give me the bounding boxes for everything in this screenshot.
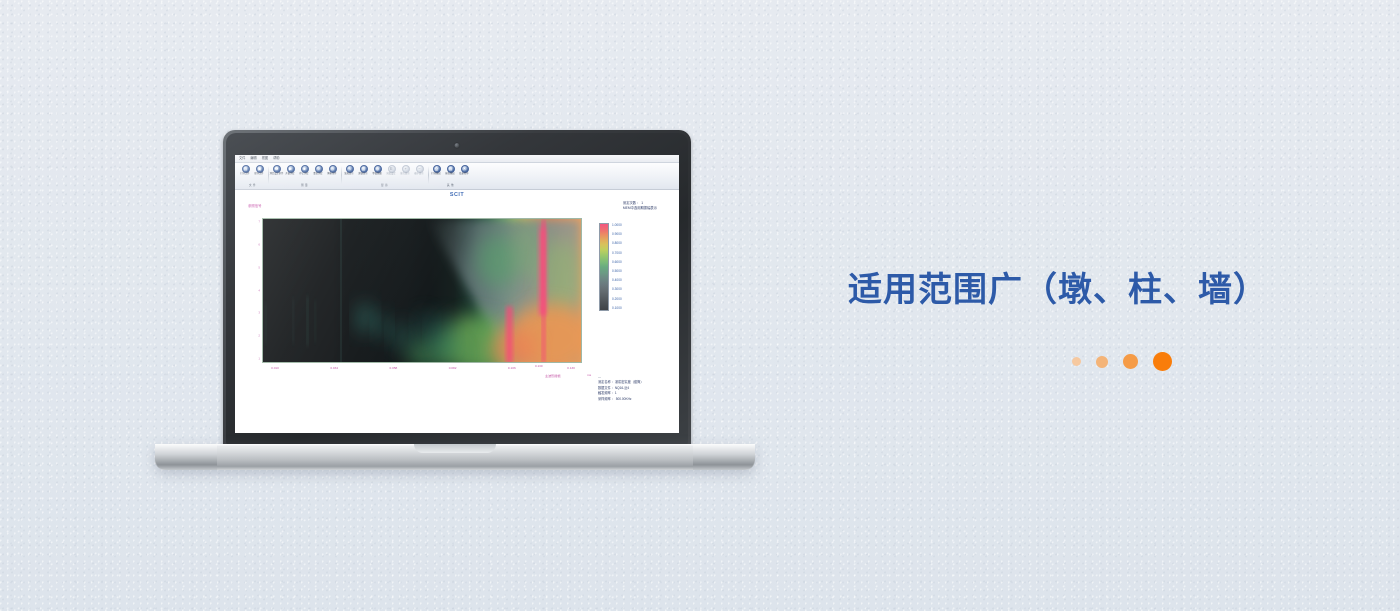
x-axis-end-value: 0.130 xyxy=(535,364,543,368)
ribbon-group-file: ▤ 打开文件 ▣ 保存文件 文 件 xyxy=(237,164,268,189)
menu-item-edit[interactable]: 编辑 xyxy=(250,157,256,160)
ribbon-group-measure: ❶ 测定设定条件 ▶ 开始测定 ■ 停止测定 xyxy=(268,164,341,189)
toolbar-button-measure-setup[interactable]: ❶ 测定设定条件 xyxy=(270,165,283,176)
toolbar-label: 重复测定 xyxy=(314,173,323,175)
colorbar-tick: 0.6000 xyxy=(612,261,622,264)
x-axis-tick: 0.034 xyxy=(330,367,338,370)
laptop-base-notch xyxy=(414,444,496,453)
dot-3[interactable] xyxy=(1123,354,1138,369)
toolbar-label: 保存文件 xyxy=(255,173,264,175)
toolbar-label: 频谱显示 xyxy=(359,173,368,175)
toolbar-label: 测定设定条件 xyxy=(270,173,284,175)
display-mode-label: MEM中选用期振幅表示 xyxy=(623,206,657,211)
menu-item-view[interactable]: 视图 xyxy=(262,157,268,160)
ribbon-group-title: 显 示 xyxy=(381,185,388,189)
plot-canvas: 参照信号 测定次数 ： 1 MEM中选用期振幅表示 7654321 xyxy=(235,199,679,433)
dot-1[interactable] xyxy=(1072,357,1081,366)
x-axis-unit: ms xyxy=(587,373,591,377)
laptop-mockup: 文件 编辑 视图 帮助 ▤ 打开文件 xyxy=(155,130,755,470)
toolbar-button-stop[interactable]: ■ 停止测定 xyxy=(298,165,311,176)
toolbar-button-zoom-in[interactable]: + 放大显示 xyxy=(399,165,412,176)
x-axis-tick: 0.130 xyxy=(567,367,575,370)
footer-divider: --- xyxy=(598,375,601,379)
y-axis-tick: 1 xyxy=(258,358,260,361)
ribbon-group-title: 其 他 xyxy=(447,185,454,189)
toolbar-button-waveform[interactable]: ∿ 波形显示 xyxy=(343,165,356,176)
x-axis-tick: 0.010 xyxy=(271,367,279,370)
colorbar-tick: 0.9000 xyxy=(612,233,622,236)
ribbon-group-title: 测 量 xyxy=(301,185,308,189)
dot-4[interactable] xyxy=(1153,352,1172,371)
laptop-base-left-edge xyxy=(155,444,217,470)
measurement-info-line: 采样频率 ： 500.00KHz xyxy=(598,397,644,403)
toolbar-button-replay[interactable]: ↻ 重复测定 xyxy=(312,165,325,176)
application-window: 文件 编辑 视图 帮助 ▤ 打开文件 xyxy=(235,155,679,433)
colorbar-tick: 0.8000 xyxy=(612,242,622,245)
carousel-indicator[interactable] xyxy=(1072,352,1172,371)
toolbar-label: 开始测定 xyxy=(286,173,295,175)
ribbon-group-other: ⎙ 打印输出 ▤ 报告输出 ✕ 结束程序 xyxy=(428,164,473,189)
colorbar-tick: 1.0000 xyxy=(612,224,622,227)
colorbar-tick: 0.4000 xyxy=(612,279,622,282)
x-axis-ticks: 0.0100.0340.0580.0820.1060.130 xyxy=(262,367,582,377)
toolbar-button-scale[interactable]: ⌷ 刻度设定 xyxy=(385,165,398,176)
measurement-info-line: 测定名称 ：灌浆密实度（套筒） xyxy=(598,380,644,386)
laptop-screen: 文件 编辑 视图 帮助 ▤ 打开文件 xyxy=(235,155,679,433)
colorbar-tick: 0.2000 xyxy=(612,298,622,301)
colorbar-tick: 0.5000 xyxy=(612,270,622,273)
toolbar-label: 停止测定 xyxy=(300,173,309,175)
y-axis-tick: 7 xyxy=(258,221,260,224)
ribbon-group-title: 文 件 xyxy=(249,185,256,189)
toolbar-button-print[interactable]: ⎙ 打印输出 xyxy=(430,165,443,176)
y-axis-tick: 6 xyxy=(258,243,260,246)
laptop-bezel-top xyxy=(226,133,688,155)
ribbon-group-display: ∿ 波形显示 ▥ 频谱显示 ◍ 等值线图 xyxy=(341,164,428,189)
toolbar-label: 打开文件 xyxy=(241,173,250,175)
x-axis-tick: 0.082 xyxy=(449,367,457,370)
laptop-base-right-edge xyxy=(693,444,755,470)
document-title: SCIT xyxy=(235,190,679,199)
reference-signal-label: 参照信号 xyxy=(248,203,262,208)
x-axis-label: 主波形振幅 xyxy=(545,373,560,378)
menu-bar: 文件 编辑 视图 帮助 xyxy=(235,155,679,163)
x-axis-tick: 0.106 xyxy=(508,367,516,370)
y-axis-tick: 5 xyxy=(258,266,260,269)
toolbar-label: 波形显示 xyxy=(345,173,354,175)
colorbar-gradient xyxy=(599,223,609,311)
toolbar-label: 打印输出 xyxy=(432,173,441,175)
dot-2[interactable] xyxy=(1096,356,1108,368)
ribbon-toolbar: ▤ 打开文件 ▣ 保存文件 文 件 xyxy=(235,163,679,190)
webcam-icon xyxy=(455,143,460,148)
laptop-lid: 文件 编辑 视图 帮助 ▤ 打开文件 xyxy=(223,130,691,448)
toolbar-label: 等值线图 xyxy=(373,173,382,175)
toolbar-button-contour[interactable]: ◍ 等值线图 xyxy=(371,165,384,176)
y-axis-tick: 2 xyxy=(258,335,260,338)
laptop-lid-inner: 文件 编辑 视图 帮助 ▤ 打开文件 xyxy=(226,133,688,445)
toolbar-button-report[interactable]: ▤ 报告输出 xyxy=(444,165,457,176)
colorbar-tick-labels: 1.00000.90000.80000.70000.60000.50000.40… xyxy=(612,223,622,311)
colorbar-tick: 0.3000 xyxy=(612,288,622,291)
toolbar-button-open-file[interactable]: ▤ 打开文件 xyxy=(239,165,252,176)
heatmap-plot[interactable] xyxy=(262,218,582,363)
toolbar-label: 缩小显示 xyxy=(415,173,424,175)
y-axis-tick: 4 xyxy=(258,289,260,292)
y-axis-ticks: 7654321 xyxy=(248,218,261,363)
laptop-base xyxy=(155,444,755,470)
colorbar: 1.00000.90000.80000.70000.60000.50000.40… xyxy=(599,223,622,311)
x-axis-tick: 0.058 xyxy=(390,367,398,370)
measure-count-label: 测定次数 ： xyxy=(623,201,640,205)
toolbar-label: 结束程序 xyxy=(460,173,469,175)
toolbar-button-exit[interactable]: ✕ 结束程序 xyxy=(458,165,471,176)
page-title: 适用范围广（墩、柱、墙） xyxy=(848,262,1268,311)
y-axis-tick: 3 xyxy=(258,312,260,315)
toolbar-label: 报告输出 xyxy=(446,173,455,175)
toolbar-button-start[interactable]: ▶ 开始测定 xyxy=(284,165,297,176)
toolbar-label: 放大显示 xyxy=(401,173,410,175)
colorbar-tick: 0.7000 xyxy=(612,252,622,255)
heatmap-image xyxy=(263,219,581,363)
measurement-info: 测定名称 ：灌浆密实度（套筒）数据文件 ：NQ16-近4触发频率 ：1采样频率 … xyxy=(598,380,644,402)
toolbar-button-save-file[interactable]: ▣ 保存文件 xyxy=(253,165,266,176)
plot-header-info: 测定次数 ： 1 MEM中选用期振幅表示 xyxy=(623,201,657,211)
colorbar-tick: 0.1000 xyxy=(612,307,622,310)
toolbar-button-zoom-out[interactable]: − 缩小显示 xyxy=(413,165,426,176)
toolbar-label: 刻度设定 xyxy=(387,173,396,175)
toolbar-label: 解析条件 xyxy=(328,173,337,175)
measure-count-value: 1 xyxy=(641,201,643,205)
toolbar-button-spectrum[interactable]: ▥ 频谱显示 xyxy=(357,165,370,176)
menu-item-file[interactable]: 文件 xyxy=(239,157,245,160)
toolbar-button-analysis[interactable]: ◎ 解析条件 xyxy=(326,165,339,176)
menu-item-help[interactable]: 帮助 xyxy=(273,157,279,160)
